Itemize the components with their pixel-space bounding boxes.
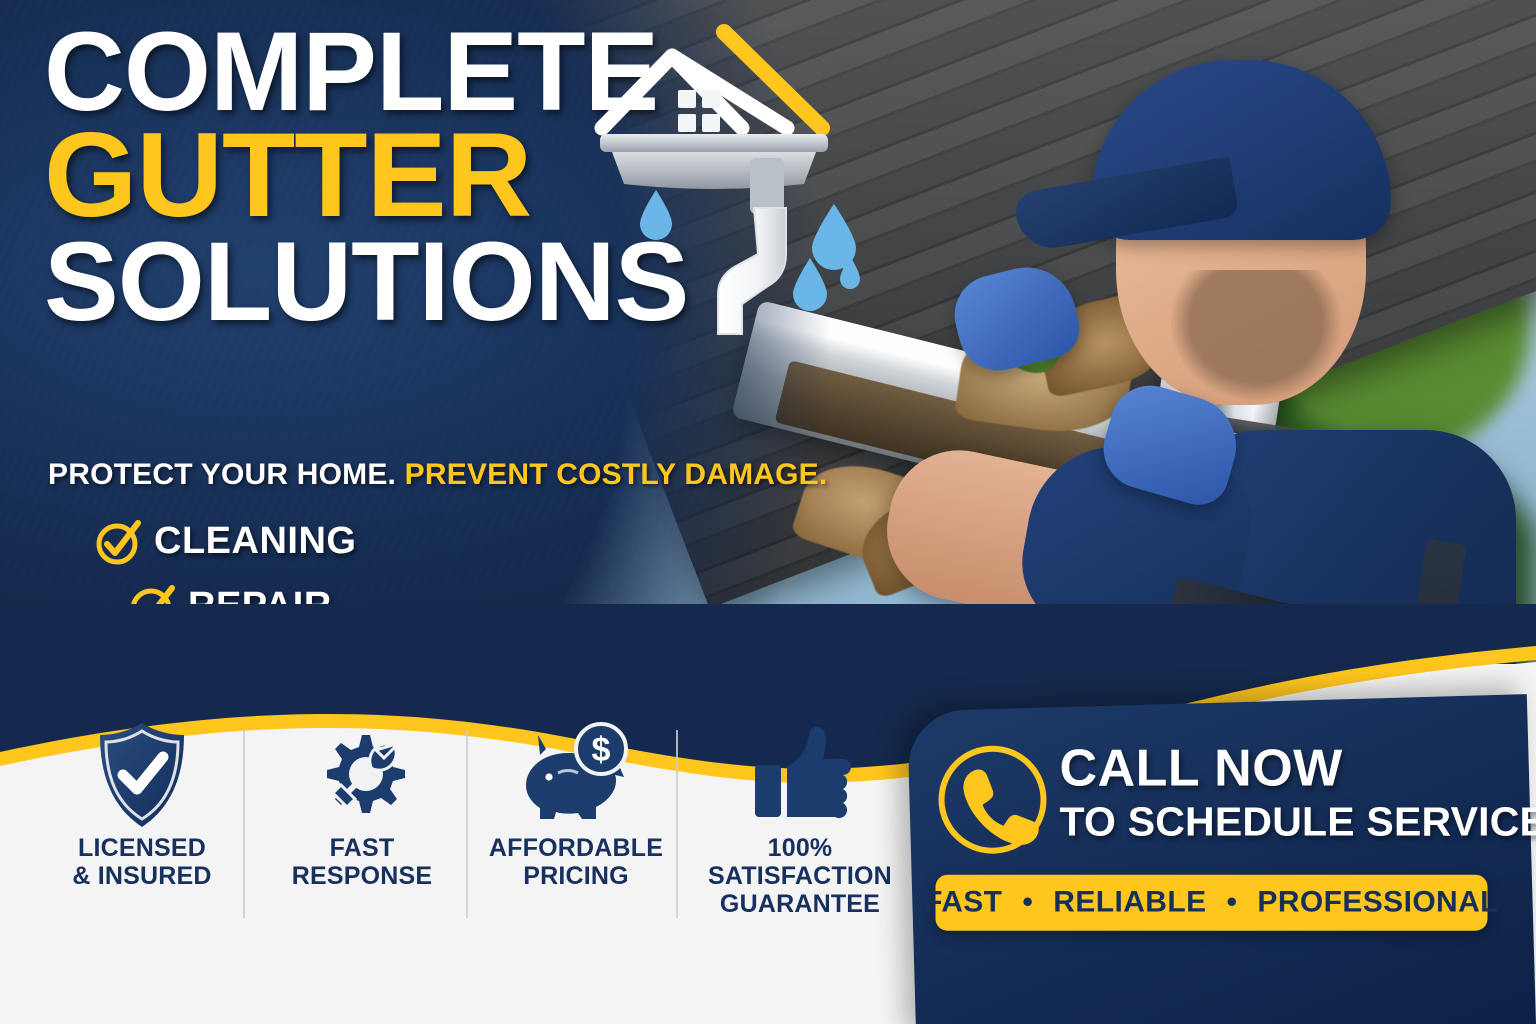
phone-icon — [934, 741, 1052, 864]
feature-licensed-insured: LICENSED & INSURED — [42, 716, 242, 890]
service-item-cleaning: CLEANING — [96, 520, 491, 563]
subheadline: PROTECT YOUR HOME. PREVENT COSTLY DAMAGE… — [48, 458, 827, 492]
cta-badge-separator: • — [1227, 886, 1238, 920]
cta-badge-separator: • — [1022, 886, 1033, 920]
piggy-bank-dollar-icon: $ — [476, 716, 676, 834]
feature-label-line1: 100% — [690, 834, 910, 862]
cta-badge-reliable: RELIABLE — [1053, 886, 1206, 920]
feature-divider — [676, 730, 678, 918]
feature-label-line2: SATISFACTION — [690, 862, 910, 890]
svg-text:$: $ — [592, 731, 611, 769]
feature-label-line1: AFFORDABLE — [476, 834, 676, 862]
feature-label-line2: PRICING — [476, 862, 676, 890]
feature-label: 100% SATISFACTION GUARANTEE — [690, 834, 910, 918]
feature-divider — [466, 730, 468, 918]
cta-title: CALL NOW — [1060, 739, 1343, 799]
house-gutter-downspout-icon — [572, 18, 872, 338]
advertisement-banner: COMPLETE GUTTER SOLUTIONS — [0, 0, 1536, 1024]
subheadline-yellow: PREVENT COSTLY DAMAGE. — [405, 458, 828, 491]
subheadline-white: PROTECT YOUR HOME. — [48, 458, 396, 491]
feature-label-line3: GUARANTEE — [690, 890, 910, 918]
shield-check-icon — [42, 716, 242, 834]
cta-badge-professional: PROFESSIONAL — [1257, 886, 1499, 920]
feature-label: LICENSED & INSURED — [42, 834, 242, 890]
feature-fast-response: FAST RESPONSE — [262, 716, 462, 890]
features-row: LICENSED & INSURED FAST — [0, 694, 940, 1024]
call-to-action-panel[interactable]: CALL NOW TO SCHEDULE SERVICE FAST • RELI… — [907, 694, 1536, 1024]
feature-divider — [243, 730, 245, 918]
feature-label-line2: RESPONSE — [262, 862, 462, 890]
cta-badge-fast: FAST — [924, 886, 1002, 920]
service-label: CLEANING — [154, 520, 356, 563]
feature-label: AFFORDABLE PRICING — [476, 834, 676, 890]
feature-label-line1: FAST — [262, 834, 462, 862]
gear-wrench-icon — [262, 716, 462, 834]
feature-label-line2: & INSURED — [42, 862, 242, 890]
feature-satisfaction-guarantee: 100% SATISFACTION GUARANTEE — [690, 716, 910, 918]
cta-subtitle: TO SCHEDULE SERVICE — [1060, 799, 1536, 846]
bottom-section: LICENSED & INSURED FAST — [0, 604, 1536, 1024]
thumbs-up-icon — [690, 716, 910, 834]
feature-label-line1: LICENSED — [42, 834, 242, 862]
cta-badge-bar[interactable]: FAST • RELIABLE • PROFESSIONAL — [936, 875, 1488, 931]
feature-label: FAST RESPONSE — [262, 834, 462, 890]
feature-affordable-pricing: $ AFFORDABLE PRICING — [476, 716, 676, 890]
check-circle-icon — [96, 521, 138, 563]
